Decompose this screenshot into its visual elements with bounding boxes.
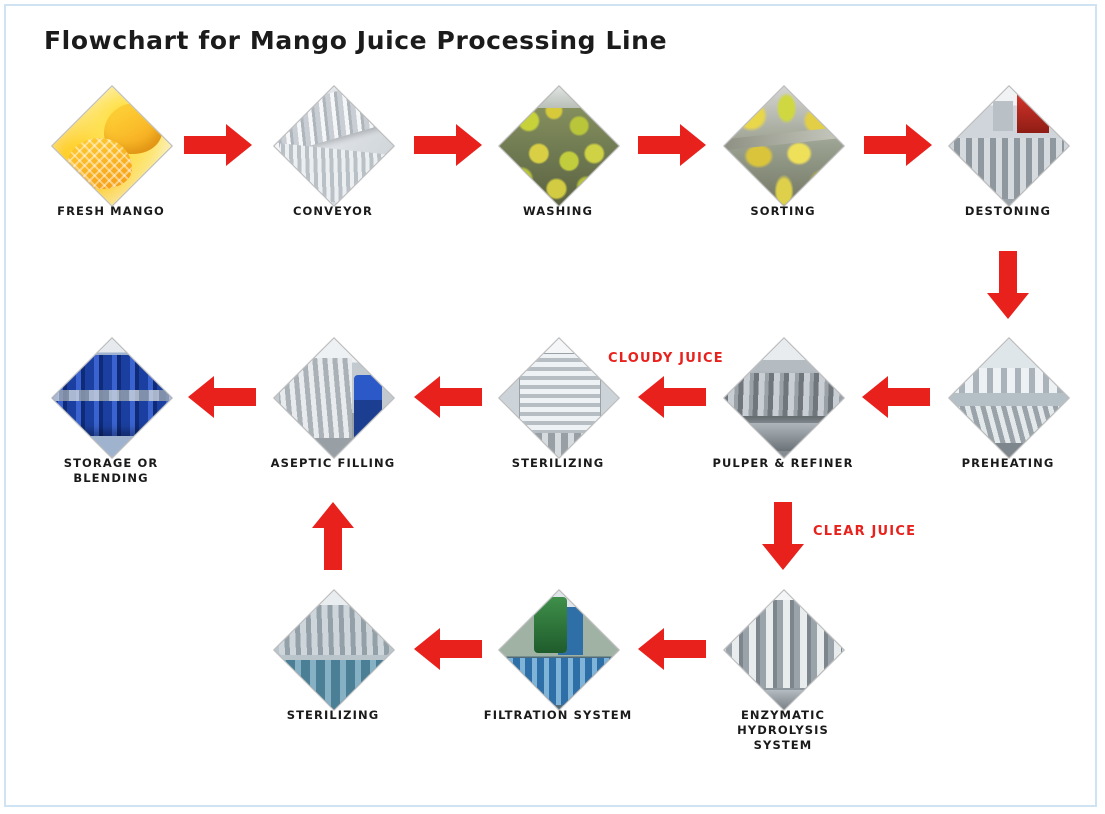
node-label-sterilizing-1: STERILIZING — [473, 456, 643, 471]
diamond-washing[interactable] — [499, 86, 617, 204]
diamond-filtration-system[interactable] — [499, 590, 617, 708]
diamond-storage-or-blending[interactable] — [52, 338, 170, 456]
node-label-destoning: DESTONING — [923, 204, 1093, 219]
node-label-conveyor: CONVEYOR — [248, 204, 418, 219]
filtration-system-photo — [498, 589, 620, 711]
diamond-sterilizing-2[interactable] — [274, 590, 392, 708]
node-label-pulper-refiner: PULPER & REFINER — [698, 456, 868, 471]
node-label-fresh-mango: FRESH MANGO — [26, 204, 196, 219]
node-washing[interactable]: WASHING — [499, 86, 617, 204]
mango-slices-photo — [51, 85, 173, 207]
page-title: Flowchart for Mango Juice Processing Lin… — [44, 26, 667, 55]
node-label-sterilizing-2: STERILIZING — [248, 708, 418, 723]
diamond-conveyor[interactable] — [274, 86, 392, 204]
arrow-pulper-to-enzymatic — [760, 500, 806, 572]
flowchart-canvas: Flowchart for Mango Juice Processing Lin… — [0, 0, 1105, 814]
arrow-conveyor-to-washing — [412, 122, 484, 168]
node-storage-or-blending[interactable]: STORAGE OR BLENDING — [52, 338, 170, 456]
arrow-mango-to-conveyor — [182, 122, 254, 168]
enzymatic-hydrolysis-tanks-photo — [723, 589, 845, 711]
flow-label-cloudy-juice: CLOUDY JUICE — [608, 351, 724, 366]
arrow-enzymatic-to-filtration — [636, 626, 708, 672]
diamond-sorting[interactable] — [724, 86, 842, 204]
diamond-fresh-mango[interactable] — [52, 86, 170, 204]
node-label-storage-or-blending: STORAGE OR BLENDING — [26, 456, 196, 486]
node-label-filtration-system: FILTRATION SYSTEM — [473, 708, 643, 723]
node-label-aseptic-filling: ASEPTIC FILLING — [248, 456, 418, 471]
node-sterilizing-2[interactable]: STERILIZING — [274, 590, 392, 708]
node-pulper-refiner[interactable]: PULPER & REFINER — [724, 338, 842, 456]
sterilizer-unit-photo — [498, 337, 620, 459]
node-aseptic-filling[interactable]: ASEPTIC FILLING — [274, 338, 392, 456]
arrow-sorting-to-destoning — [862, 122, 934, 168]
arrow-sterilizing-to-aseptic — [412, 374, 484, 420]
node-filtration-system[interactable]: FILTRATION SYSTEM — [499, 590, 617, 708]
node-enzymatic-hydrolysis-system[interactable]: ENZYMATIC HYDROLYSIS SYSTEM — [724, 590, 842, 708]
arrow-washing-to-sorting — [636, 122, 708, 168]
node-sorting[interactable]: SORTING — [724, 86, 842, 204]
mango-washing-tank-photo — [498, 85, 620, 207]
diamond-pulper-refiner[interactable] — [724, 338, 842, 456]
diamond-destoning[interactable] — [949, 86, 1067, 204]
node-label-sorting: SORTING — [698, 204, 868, 219]
node-label-preheating: PREHEATING — [923, 456, 1093, 471]
preheating-tubes-photo — [948, 337, 1070, 459]
node-preheating[interactable]: PREHEATING — [949, 338, 1067, 456]
node-fresh-mango[interactable]: FRESH MANGO — [52, 86, 170, 204]
arrow-filtration-to-sterilizing2 — [412, 626, 484, 672]
stainless-conveyor-photo — [273, 85, 395, 207]
destoning-machine-photo — [948, 85, 1070, 207]
arrow-sterilizing2-to-aseptic — [310, 500, 356, 572]
sterilizer-plant-photo — [273, 589, 395, 711]
diamond-sterilizing-1[interactable] — [499, 338, 617, 456]
arrow-aseptic-to-storage — [186, 374, 258, 420]
mango-sorting-belt-photo — [723, 85, 845, 207]
pulper-refiner-photo — [723, 337, 845, 459]
node-sterilizing-1[interactable]: STERILIZING — [499, 338, 617, 456]
arrow-pulper-to-sterilizing — [636, 374, 708, 420]
blue-storage-drums-photo — [51, 337, 173, 459]
arrow-destoning-to-preheating — [985, 249, 1031, 321]
diamond-enzymatic-hydrolysis-system[interactable] — [724, 590, 842, 708]
diamond-aseptic-filling[interactable] — [274, 338, 392, 456]
node-label-enzymatic-hydrolysis-system: ENZYMATIC HYDROLYSIS SYSTEM — [698, 708, 868, 753]
diamond-preheating[interactable] — [949, 338, 1067, 456]
flow-label-clear-juice: CLEAR JUICE — [813, 524, 916, 539]
node-destoning[interactable]: DESTONING — [949, 86, 1067, 204]
node-conveyor[interactable]: CONVEYOR — [274, 86, 392, 204]
node-label-washing: WASHING — [473, 204, 643, 219]
aseptic-filling-line-photo — [273, 337, 395, 459]
arrow-preheating-to-pulper — [860, 374, 932, 420]
